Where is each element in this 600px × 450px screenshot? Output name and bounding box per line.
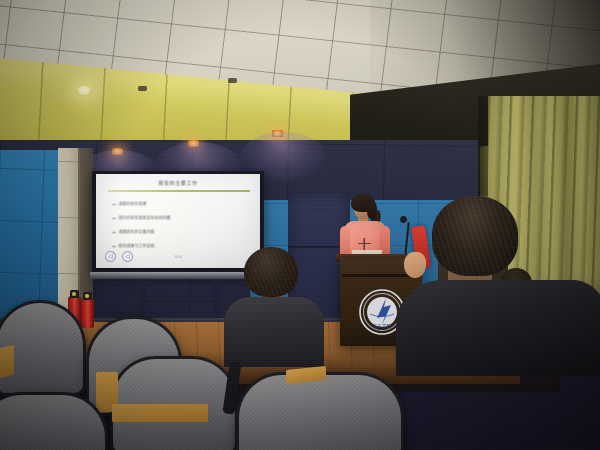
extinguisher-gauge-icon xyxy=(85,294,89,298)
slide-bullet-item: 课题的研究背景 xyxy=(112,201,147,207)
slide-divider-rule xyxy=(108,190,250,192)
bullet-dash-icon xyxy=(112,232,116,233)
display-stand-crossbar xyxy=(142,300,218,303)
chair xyxy=(236,372,404,450)
audience-center xyxy=(222,247,326,367)
audience-hand xyxy=(404,252,426,278)
presenter-hair-side xyxy=(367,200,377,219)
slide-bullet-item: 研究成果与工作总结 xyxy=(112,243,155,249)
slide-bullet-item: 课题研究的主要内容 xyxy=(112,229,155,235)
fire-extinguisher xyxy=(81,298,94,328)
ceiling-fixture xyxy=(228,78,237,83)
extinguisher-gauge-icon xyxy=(72,292,76,296)
bullet-dash-icon xyxy=(112,218,116,219)
chair xyxy=(110,356,238,450)
cyan-panel-texture xyxy=(0,150,62,325)
ceiling-fixture xyxy=(138,86,147,91)
bullet-dash-icon xyxy=(112,204,116,205)
slide-title: 报告的主要工作 xyxy=(96,180,260,187)
audience-torso xyxy=(224,297,324,367)
audience-torso xyxy=(396,280,600,376)
lecture-hall-photo: 报告的主要工作 课题的研究背景 国内外研究现状及存在的问题 课题研究的主要内容 … xyxy=(0,0,600,450)
audience-right xyxy=(404,196,600,376)
speaker-icon[interactable]: ◁ xyxy=(105,251,116,262)
svg-text:航天学院: 航天学院 xyxy=(373,323,392,330)
slide-bullet-item: 国内外研究现状及存在的问题 xyxy=(112,215,171,221)
audience-hair-texture xyxy=(244,247,298,297)
chair-wood-panel xyxy=(112,404,208,422)
audience-hair-texture xyxy=(432,196,518,276)
speaker-icon[interactable]: ◁ xyxy=(122,251,133,262)
ceiling-downlight-icon xyxy=(76,86,92,96)
bullet-dash-icon xyxy=(112,246,116,247)
